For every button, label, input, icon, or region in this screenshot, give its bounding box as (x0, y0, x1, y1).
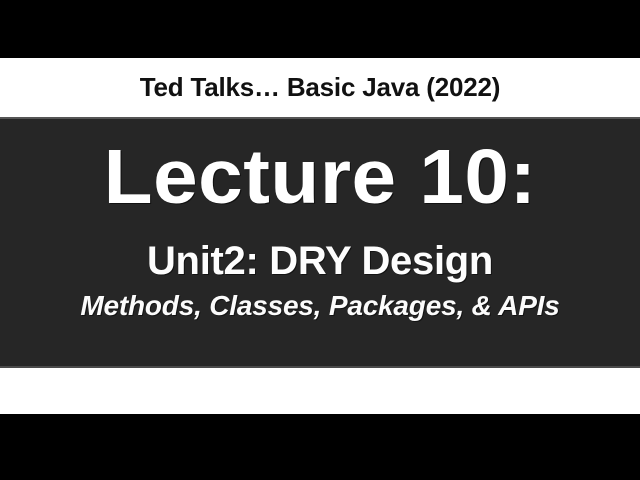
lecture-heading: Lecture 10: (104, 141, 537, 215)
letterbox-top (0, 0, 640, 58)
course-title: Ted Talks… Basic Java (2022) (140, 72, 501, 103)
topics-subtitle: Methods, Classes, Packages, & APIs (80, 292, 559, 320)
lecture-title-block: Lecture 10: Unit2: DRY Design Methods, C… (0, 117, 640, 368)
slide-header-band: Ted Talks… Basic Java (2022) (0, 58, 640, 117)
slide-canvas: Ted Talks… Basic Java (2022) Lecture 10:… (0, 0, 640, 480)
letterbox-bottom (0, 414, 640, 480)
unit-heading: Unit2: DRY Design (147, 241, 493, 281)
